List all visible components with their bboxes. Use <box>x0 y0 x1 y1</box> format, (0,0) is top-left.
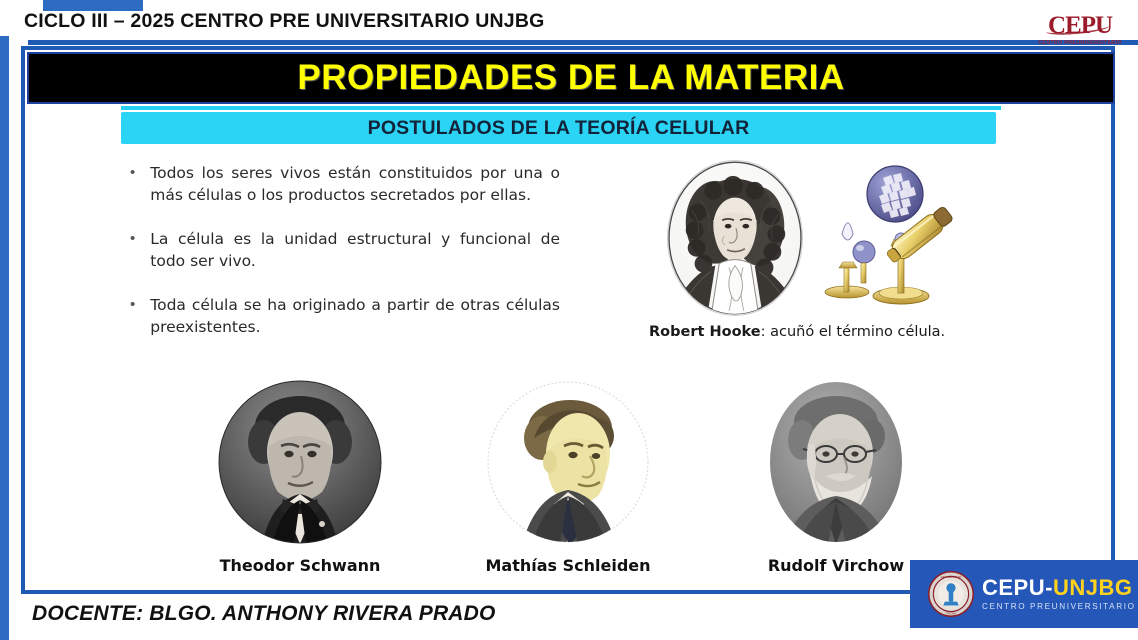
postulates-list: • Todos los seres vivos están constituid… <box>130 162 560 360</box>
title-cyan-underline <box>121 106 1001 110</box>
slide-title-banner: PROPIEDADES DE LA MATERIA <box>27 52 1115 104</box>
cepu-logo-subtitle: CENTRO PREUNIVERSITARIO <box>1038 40 1121 46</box>
list-item: • La célula es la unidad estructural y f… <box>130 228 560 272</box>
scientists-row: Theodor Schwann <box>25 380 1111 575</box>
scientist-name: Theodor Schwann <box>215 556 385 575</box>
page-header: CICLO III – 2025 CENTRO PRE UNIVERSITARI… <box>0 8 1138 40</box>
badge-brand: CEPU-UNJBG <box>982 577 1136 599</box>
page-title-cycle: CICLO III – 2025 <box>24 10 175 32</box>
list-item-text: La célula es la unidad estructural y fun… <box>150 228 560 272</box>
scientist-name: Mathías Schleiden <box>483 556 653 575</box>
cepu-unjbg-badge: UNIVERSIDAD TACNA CEPU-UNJBG CENTRO PREU… <box>910 560 1138 628</box>
list-item: • Todos los seres vivos están constituid… <box>130 162 560 206</box>
list-item-text: Todos los seres vivos están constituidos… <box>150 162 560 206</box>
rudolf-virchow-portrait-image <box>754 380 918 544</box>
docente-label: DOCENTE: BLGO. ANTHONY RIVERA PRADO <box>32 602 496 626</box>
svg-text:UNIVERSIDAD: UNIVERSIDAD <box>941 575 963 579</box>
badge-brand-unjbg: UNJBG <box>1053 575 1133 600</box>
robert-hooke-name: Robert Hooke <box>649 324 761 340</box>
slide-subheading-text: POSTULADOS DE LA TEORÍA CELULAR <box>368 117 750 140</box>
scientist-card-schleiden: Mathías Schleiden <box>483 380 653 575</box>
badge-subtitle: CENTRO PREUNIVERSITARIO <box>982 603 1136 611</box>
bullet-marker-icon: • <box>130 162 135 206</box>
hooke-microscope-illustration <box>819 164 959 314</box>
mathias-schleiden-portrait-image <box>486 380 650 544</box>
page-title: CICLO III – 2025 CENTRO PRE UNIVERSITARI… <box>24 10 544 33</box>
robert-hooke-block: Robert Hooke: acuñó el término célula. <box>645 160 985 340</box>
header-divider-rule <box>28 40 1138 45</box>
robert-hooke-description: : acuñó el término célula. <box>761 324 946 340</box>
left-blue-side-bar <box>0 36 9 640</box>
slide-title-text: PROPIEDADES DE LA MATERIA <box>297 58 844 98</box>
robert-hooke-caption: Robert Hooke: acuñó el término célula. <box>649 324 834 340</box>
scientist-card-virchow: Rudolf Virchow <box>751 380 921 575</box>
bullet-marker-icon: • <box>130 294 135 338</box>
page-title-institution: CENTRO PRE UNIVERSITARIO UNJBG <box>175 10 545 32</box>
slide-frame: PROPIEDADES DE LA MATERIA POSTULADOS DE … <box>21 46 1115 594</box>
robert-hooke-portrait-image <box>667 160 803 316</box>
svg-text:TACNA: TACNA <box>946 612 957 616</box>
list-item: • Toda célula se ha originado a partir d… <box>130 294 560 338</box>
bullet-marker-icon: • <box>130 228 135 272</box>
robert-hooke-images-row <box>645 160 985 316</box>
slide-subheading-banner: POSTULADOS DE LA TEORÍA CELULAR <box>121 112 996 144</box>
cepu-logo-wordmark: CEPU <box>1048 13 1112 38</box>
badge-text-block: CEPU-UNJBG CENTRO PREUNIVERSITARIO <box>982 577 1136 611</box>
scientist-name: Rudolf Virchow <box>751 556 921 575</box>
unjbg-seal-icon: UNIVERSIDAD TACNA <box>928 571 974 617</box>
list-item-text: Toda célula se ha originado a partir de … <box>150 294 560 338</box>
theodor-schwann-portrait-image <box>218 380 382 544</box>
scientist-card-schwann: Theodor Schwann <box>215 380 385 575</box>
cepu-logo: CEPU CENTRO PREUNIVERSITARIO <box>1034 10 1126 48</box>
badge-brand-cepu: CEPU- <box>982 575 1053 600</box>
